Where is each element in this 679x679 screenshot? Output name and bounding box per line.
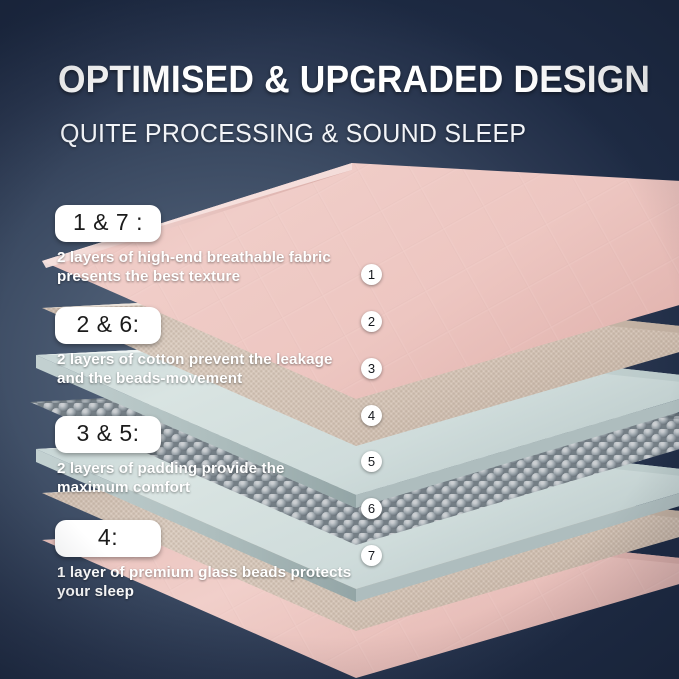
- callout-label-1-and-7: 1 & 7 :: [55, 205, 161, 242]
- layer-badge-2: 2: [361, 311, 382, 332]
- callout-text-4: 1 layer of premium glass beads protects …: [57, 564, 355, 601]
- callout-text-3-and-5: 2 layers of padding provide the maximum …: [57, 460, 355, 497]
- layer-badge-3: 3: [361, 358, 382, 379]
- layer-badge-7: 7: [361, 545, 382, 566]
- layer-badge-6: 6: [361, 498, 382, 519]
- page-title: OPTIMISED & UPGRADED DESIGN: [58, 58, 616, 102]
- callout-4: 4: 1 layer of premium glass beads protec…: [55, 520, 355, 601]
- callout-label-2-and-6: 2 & 6:: [55, 307, 161, 344]
- callout-1-and-7: 1 & 7 : 2 layers of high-end breathable …: [55, 205, 355, 286]
- layer-badge-5: 5: [361, 451, 382, 472]
- layer-badge-4: 4: [361, 405, 382, 426]
- infographic-canvas: 1 2 3 4 5 6 7 OPTIMISED & UPGRADED DESIG…: [0, 0, 679, 679]
- callout-3-and-5: 3 & 5: 2 layers of padding provide the m…: [55, 416, 355, 497]
- callout-label-3-and-5: 3 & 5:: [55, 416, 161, 453]
- layer-badge-1: 1: [361, 264, 382, 285]
- callout-text-1-and-7: 2 layers of high-end breathable fabric p…: [57, 249, 355, 286]
- callout-2-and-6: 2 & 6: 2 layers of cotton prevent the le…: [55, 307, 355, 388]
- callout-text-2-and-6: 2 layers of cotton prevent the leakage a…: [57, 351, 355, 388]
- callout-label-4: 4:: [55, 520, 161, 557]
- page-subtitle: QUITE PROCESSING & SOUND SLEEP: [60, 117, 526, 149]
